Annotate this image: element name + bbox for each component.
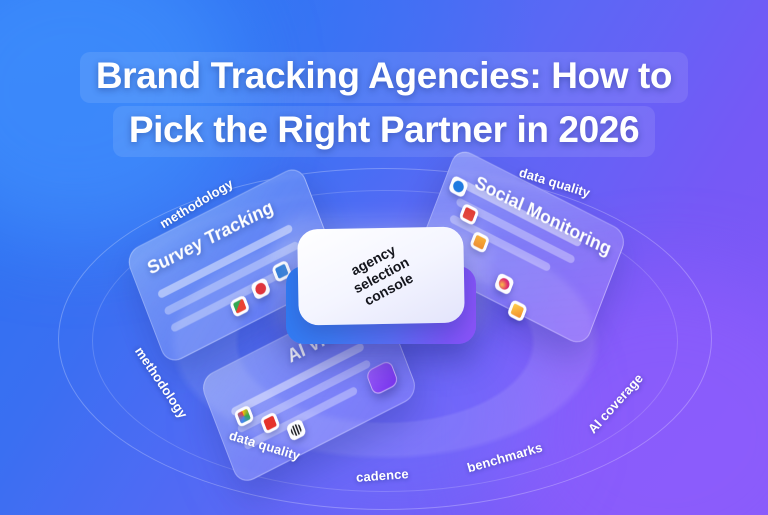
page-title: Brand Tracking Agencies: How to Pick the… [0, 52, 768, 157]
console-top-face[interactable]: agency selection console [297, 227, 465, 326]
title-line-1: Brand Tracking Agencies: How to [80, 52, 688, 103]
console-label: agency selection console [296, 214, 466, 336]
instagram-pink-icon[interactable] [494, 272, 515, 296]
title-line-2: Pick the Right Partner in 2026 [113, 106, 655, 157]
orbit-label-ai-coverage: AI coverage [585, 371, 646, 437]
orbit-label-benchmarks: benchmarks [465, 440, 544, 476]
orbit-label-cadence: cadence [356, 466, 410, 485]
agency-selection-console[interactable]: agency selection console [268, 222, 494, 358]
illustration-canvas: Brand Tracking Agencies: How to Pick the… [0, 0, 768, 515]
sparkle-orange-icon[interactable] [507, 299, 528, 323]
social-blue-icon[interactable] [448, 175, 469, 199]
